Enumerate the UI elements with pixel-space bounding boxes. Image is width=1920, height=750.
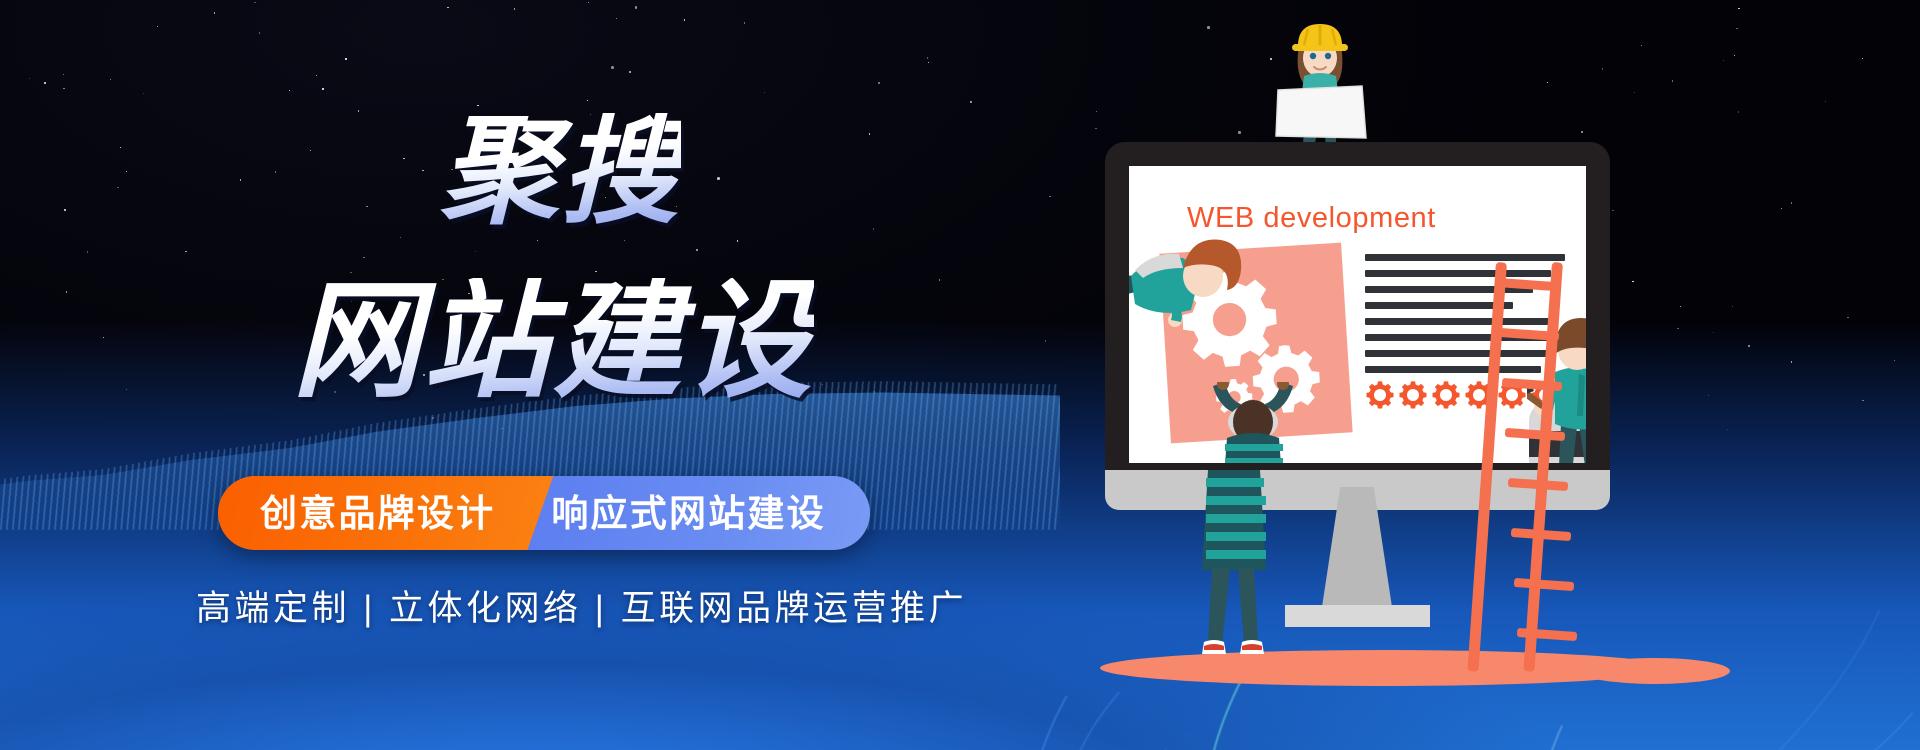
service-badge: 创意品牌设计 响应式网站建设 (218, 476, 870, 550)
gear-row-icon (1431, 380, 1461, 410)
headline-block: 聚搜 网站建设 创意品牌设计 响应式网站建设 高端定制 | 立体化网络 | 互联… (0, 0, 1060, 750)
promo-banner: 聚搜 网站建设 创意品牌设计 响应式网站建设 高端定制 | 立体化网络 | 互联… (0, 0, 1920, 750)
badge-responsive-build[interactable]: 响应式网站建设 (527, 476, 870, 550)
badge-left-label: 创意品牌设计 (260, 495, 495, 532)
brand-title-line-2: 网站建设 (292, 278, 814, 406)
worker-lifting-card-body (1168, 470, 1298, 675)
worker-leaning-left (1129, 224, 1265, 364)
ladder (1490, 262, 1582, 672)
monitor-illustration: WEB development (1060, 0, 1920, 750)
ground-ellipse-secondary (1580, 658, 1730, 684)
screen-text-line (1365, 254, 1565, 261)
worker-lifting-card (1187, 382, 1317, 463)
monitor-stand-foot (1285, 605, 1430, 627)
brand-title-line-1: 聚搜 (440, 113, 681, 231)
badge-creative-design[interactable]: 创意品牌设计 (218, 476, 553, 550)
tagline-text: 高端定制 | 立体化网络 | 互联网品牌运营推广 (196, 580, 967, 631)
badge-right-label: 响应式网站建设 (551, 495, 826, 532)
gear-row-icon (1398, 380, 1428, 410)
gear-row-icon (1365, 380, 1395, 410)
